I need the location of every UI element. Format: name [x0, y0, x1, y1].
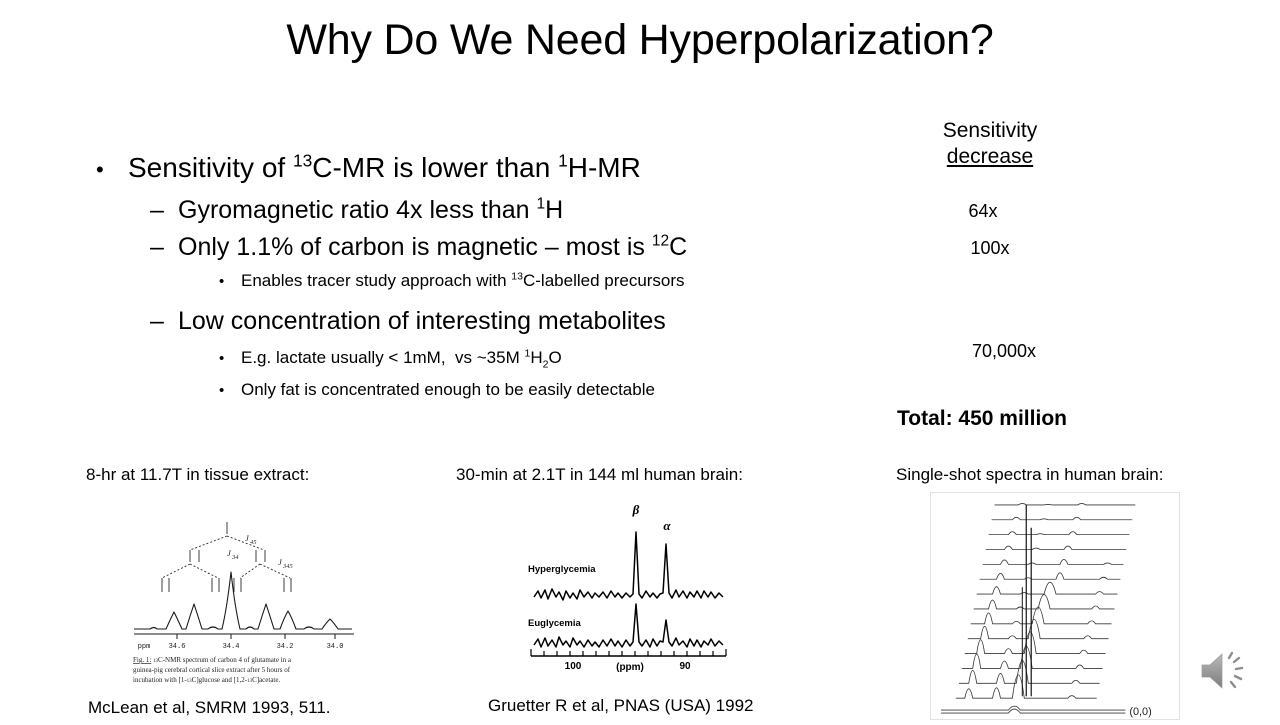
speaker-audio-icon[interactable]: [1196, 648, 1252, 694]
sensitivity-value-concentration: 70,000x: [914, 341, 1094, 362]
bullet-level2-abundance: – Only 1.1% of carbon is magnetic – most…: [96, 229, 826, 265]
bullet-level3-tracer-text: Enables tracer study approach with 13C-l…: [241, 266, 685, 296]
figure1-reference: McLean et al, SMRM 1993, 511.: [88, 697, 331, 719]
sup-13: 13: [511, 270, 523, 282]
sensitivity-decrease-heading: Sensitivity decrease: [900, 118, 1080, 170]
figure1-caption: 8-hr at 11.7T in tissue extract:: [86, 464, 309, 486]
figure2-tick-100: 100: [565, 661, 582, 672]
bullet-level1-sensitivity: • Sensitivity of 13C-MR is lower than 1H…: [96, 148, 826, 190]
svg-text:guinea-pig cerebral cortical s: guinea-pig cerebral cortical slice extra…: [133, 666, 291, 674]
figure2-nmr-spectrum-image: β α Hyperglycemia Euglycemia 100 (ppm) 9…: [508, 494, 744, 679]
figure3-zero-label: (0,0): [1129, 706, 1151, 718]
bullet-level2-concentration: – Low concentration of interesting metab…: [96, 303, 826, 339]
svg-text:45: 45: [250, 539, 257, 546]
sup-13: 13: [293, 151, 312, 171]
sup-1: 1: [558, 151, 568, 171]
sensitivity-total-label: Total: 450 million: [897, 407, 1067, 431]
bullet-level2-gyromagnetic-text: Gyromagnetic ratio 4x less than 1H: [178, 192, 563, 228]
figure2-caption: 30-min at 2.1T in 144 ml human brain:: [456, 464, 743, 486]
bullet-marker-dash: –: [150, 192, 178, 228]
figure2-axis-unit-label: (ppm): [616, 662, 644, 673]
figure1-tick-2: 34.2: [277, 643, 294, 651]
bullet-level3-lactate: • E.g. lactate usually < 1mM, vs ~35M 1H…: [96, 343, 826, 374]
figure1-tick-1: 34.4: [223, 643, 240, 651]
figure2-reference: Gruetter R et al, PNAS (USA) 1992: [488, 695, 754, 717]
sensitivity-value-abundance: 100x: [900, 238, 1080, 259]
bullet-marker-dash: –: [150, 303, 178, 339]
figure1-axis-unit-label: ppm: [138, 643, 151, 651]
figure1-printed-caption: Fig. 1: 13C-NMR spectrum of carbon 4 of …: [133, 656, 292, 684]
svg-text:incubation with [1-13C]glucose: incubation with [1-13C]glucose and [1,2-…: [133, 676, 280, 684]
bullet-level3-lactate-text: E.g. lactate usually < 1mM, vs ~35M 1H2O: [241, 343, 562, 373]
sensitivity-heading-line1: Sensitivity: [900, 118, 1080, 144]
bullet-level3-tracer: • Enables tracer study approach with 13C…: [96, 266, 826, 297]
sensitivity-value-gyromagnetic: 64x: [893, 201, 1073, 222]
bullet-level3-fat-text: Only fat is concentrated enough to be ea…: [241, 375, 655, 405]
sup-1: 1: [537, 196, 546, 213]
bullet-marker-dot: •: [96, 150, 128, 190]
figure1-tick-3: 34.0: [327, 643, 344, 651]
bullet-level2-abundance-text: Only 1.1% of carbon is magnetic – most i…: [178, 229, 687, 265]
bullet-marker-dot: •: [219, 344, 241, 374]
sup-12: 12: [652, 233, 669, 250]
figure1-nmr-spectrum-image: J 45 J 34 J 345 ppm 34.6 34.4 34.2 34.0 …: [128, 512, 360, 693]
figure3-stacked-spectra-image: (0,0): [930, 492, 1180, 725]
bullet-marker-dot: •: [219, 267, 241, 297]
page-title: Why Do We Need Hyperpolarization?: [0, 14, 1280, 66]
figure1-tick-0: 34.6: [169, 643, 186, 651]
svg-text:345: 345: [282, 563, 294, 570]
bullet-level2-gyromagnetic: – Gyromagnetic ratio 4x less than 1H: [96, 192, 826, 228]
figure3-caption: Single-shot spectra in human brain:: [896, 464, 1163, 486]
figure2-trace-label-euglycemia: Euglycemia: [528, 618, 582, 629]
sensitivity-heading-line2: decrease: [900, 144, 1080, 170]
figure2-trace-label-hyperglycemia: Hyperglycemia: [528, 564, 596, 575]
sup-1: 1: [524, 347, 530, 359]
svg-text:34: 34: [231, 554, 239, 561]
bullet-content-block: • Sensitivity of 13C-MR is lower than 1H…: [96, 148, 826, 407]
bullet-level2-concentration-text: Low concentration of interesting metabol…: [178, 303, 666, 339]
figure2-peak-label-beta: β: [632, 502, 640, 517]
bullet-marker-dot: •: [219, 376, 241, 406]
bullet-level3-fat: • Only fat is concentrated enough to be …: [96, 375, 826, 406]
sub-2: 2: [543, 358, 549, 370]
bullet-marker-dash: –: [150, 229, 178, 265]
figure2-tick-90: 90: [679, 661, 691, 672]
bullet-level1-text: Sensitivity of 13C-MR is lower than 1H-M…: [128, 148, 641, 188]
figure2-peak-label-alpha: α: [663, 518, 671, 533]
